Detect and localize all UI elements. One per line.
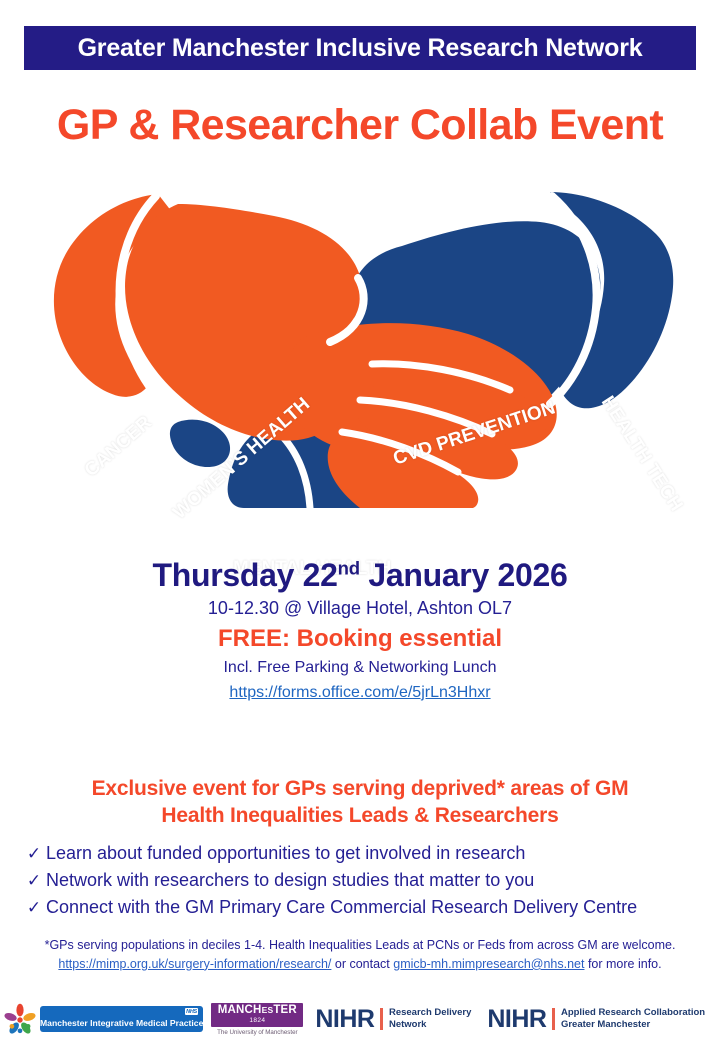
event-inclusions: Incl. Free Parking & Networking Lunch (0, 658, 720, 677)
uom-purple-box: MANCHESTER 1824 (211, 1003, 303, 1028)
event-price-note: FREE: Booking essential (0, 625, 720, 653)
list-item: ✓ Learn about funded opportunities to ge… (22, 840, 712, 867)
event-date-ordinal: nd (338, 557, 360, 578)
event-venue: 10-12.30 @ Village Hotel, Ashton OL7 (0, 598, 720, 620)
nihr-arc-subtitle: Applied Research CollaborationGreater Ma… (561, 1007, 705, 1030)
page-title: GP & Researcher Collab Event (0, 101, 720, 150)
footnote: *GPs serving populations in deciles 1-4.… (16, 936, 704, 974)
check-icon: ✓ (22, 896, 46, 921)
event-date-prefix: Thursday 22 (152, 557, 337, 593)
event-date: Thursday 22nd January 2026 (0, 558, 720, 593)
university-of-manchester-logo: MANCHESTER 1824 The University of Manche… (211, 1003, 303, 1036)
uom-word-part-3: TER (273, 1004, 297, 1016)
nihr-rdn-line-1: Research Delivery (389, 1007, 471, 1018)
audience-statement: Exclusive event for GPs serving deprived… (0, 776, 720, 830)
nihr-rdn-line-2: Network (389, 1019, 426, 1030)
list-item: ✓ Network with researchers to design stu… (22, 867, 712, 894)
audience-line-1: Exclusive event for GPs serving deprived… (0, 776, 720, 803)
nihr-arc-gm-logo: NIHR Applied Research CollaborationGreat… (487, 1005, 705, 1034)
mimp-logo: NHS Manchester Integrative Medical Pract… (40, 1006, 203, 1032)
handshake-illustration: CANCER WOMEN’S HEALTH CVD PREVENTION HEA… (30, 178, 690, 508)
audience-line-2: Health Inequalities Leads & Researchers (0, 803, 720, 830)
nihr-arc-line-1: Applied Research Collaboration (561, 1007, 705, 1018)
benefits-list: ✓ Learn about funded opportunities to ge… (22, 840, 712, 920)
footnote-line-2: https://mimp.org.uk/surgery-information/… (16, 955, 704, 974)
contact-email-link[interactable]: gmicb-mh.mimpresearch@nhs.net (393, 957, 584, 971)
nihr-divider-icon (552, 1008, 555, 1030)
nihr-wordmark: NIHR (487, 1005, 546, 1034)
footer-logo-strip: NHS Manchester Integrative Medical Pract… (0, 998, 720, 1040)
list-item-label: Connect with the GM Primary Care Commerc… (46, 894, 637, 920)
event-details: Thursday 22nd January 2026 10-12.30 @ Vi… (0, 558, 720, 702)
nihr-wordmark: NIHR (315, 1005, 374, 1034)
research-page-link[interactable]: https://mimp.org.uk/surgery-information/… (58, 957, 331, 971)
nhs-logo: NHS (185, 1008, 199, 1015)
footnote-line-1: *GPs serving populations in deciles 1-4.… (16, 936, 704, 955)
uom-subtitle: The University of Manchester (211, 1029, 303, 1036)
footnote-end-text: for more info. (584, 957, 661, 971)
mimp-logo-label: Manchester Integrative Medical Practice (40, 1018, 203, 1028)
check-icon: ✓ (22, 842, 46, 867)
check-icon: ✓ (22, 869, 46, 894)
uom-wordmark: MANCHESTER (214, 1005, 300, 1017)
nihr-research-delivery-network-logo: NIHR Research DeliveryNetwork (315, 1005, 471, 1034)
nihr-divider-icon (380, 1008, 383, 1030)
list-item-label: Network with researchers to design studi… (46, 867, 534, 893)
footnote-mid-text: or contact (331, 957, 393, 971)
booking-link[interactable]: https://forms.office.com/e/5jrLn3Hhxr (229, 684, 490, 702)
nihr-arc-line-2: Greater Manchester (561, 1019, 650, 1030)
event-date-suffix: January 2026 (360, 557, 568, 593)
pinwheel-logo (2, 1002, 38, 1036)
uom-word-part-1: MANCH (218, 1004, 262, 1016)
header-banner: Greater Manchester Inclusive Research Ne… (24, 26, 696, 70)
uom-word-part-2: ES (262, 1005, 274, 1015)
network-title: Greater Manchester Inclusive Research Ne… (78, 34, 643, 63)
uom-founding-year: 1824 (214, 1017, 300, 1024)
list-item: ✓ Connect with the GM Primary Care Comme… (22, 894, 712, 921)
list-item-label: Learn about funded opportunities to get … (46, 840, 525, 866)
nihr-rdn-subtitle: Research DeliveryNetwork (389, 1007, 471, 1030)
